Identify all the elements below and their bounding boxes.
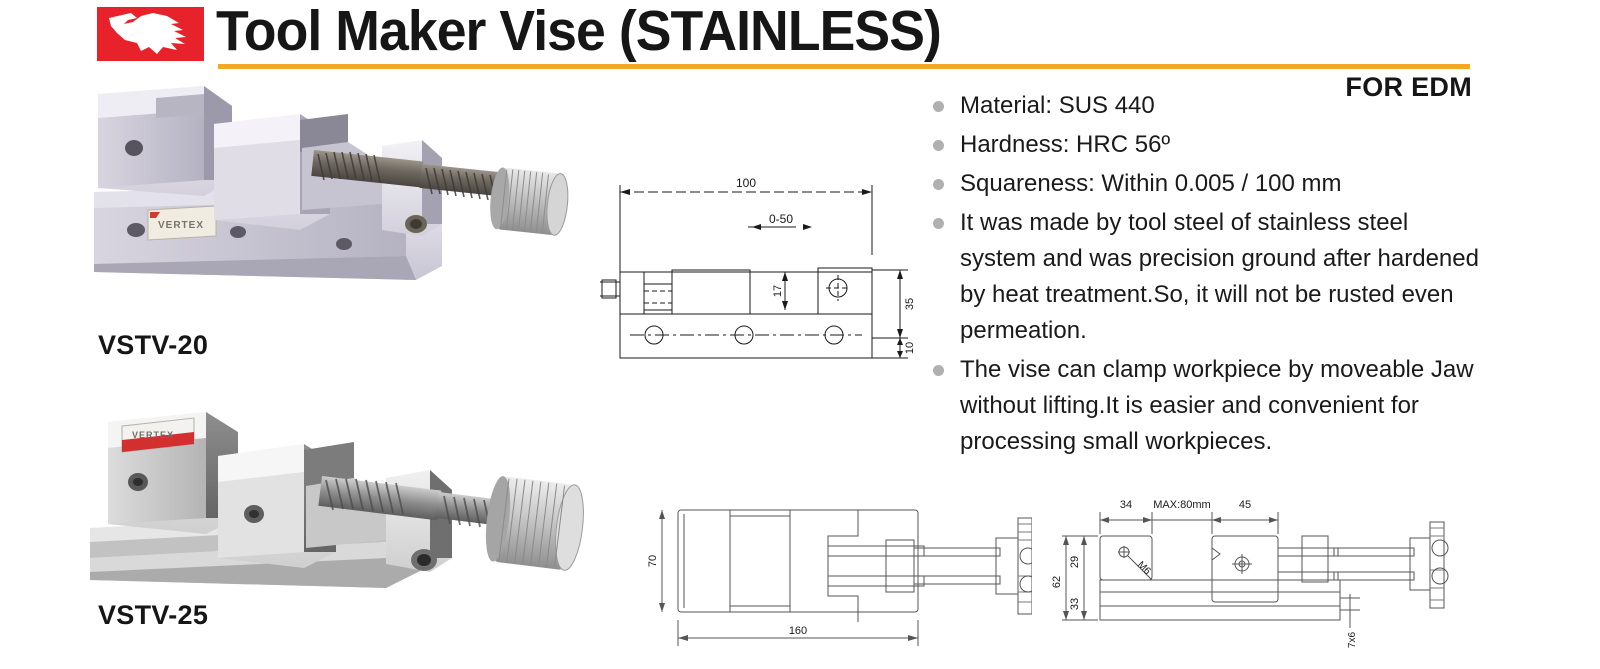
dim-fixed-jaw: 34 — [1120, 499, 1132, 511]
dim-max-opening: MAX:80mm — [1153, 499, 1210, 511]
dim-body-height: 35 — [904, 298, 916, 310]
dim-total-height: 62 — [1051, 576, 1063, 588]
spec-item: Material: SUS 440 — [928, 88, 1488, 124]
callout-thread: M6 — [1135, 559, 1153, 577]
spec-item: It was made by tool steel of stainless s… — [928, 205, 1488, 349]
side-elevation-vstv25-svg: 34 MAX:80mm 45 62 29 33 7x6 M6 — [1030, 478, 1460, 658]
dim-jaw-opening: 0-50 — [769, 212, 793, 226]
vise-illustration-vstv25: VERTEX — [86, 400, 586, 615]
model-label-vstv25: VSTV-25 — [98, 600, 208, 631]
dim-jaw-height: 29 — [1069, 556, 1081, 568]
product-photo-vstv20: VERTEX — [86, 84, 586, 324]
spec-item: Hardness: HRC 56º — [928, 127, 1488, 163]
dim-overall-length: 100 — [736, 176, 756, 190]
technical-drawing-side-vstv25: 34 MAX:80mm 45 62 29 33 7x6 M6 — [1030, 478, 1460, 658]
spec-text: Material: SUS 440 — [960, 92, 1155, 119]
vise-illustration-vstv20: VERTEX — [86, 84, 586, 324]
title-rule — [218, 64, 1470, 69]
page-title: Tool Maker Vise (STAINLESS) — [216, 0, 1081, 64]
svg-text:VERTEX: VERTEX — [132, 430, 174, 440]
svg-text:VERTEX: VERTEX — [158, 220, 204, 231]
technical-drawing-plan-vstv25: 70 160 — [632, 480, 1032, 655]
bullet-icon — [933, 140, 944, 151]
spec-text: Squareness: Within 0.005 / 100 mm — [960, 170, 1342, 197]
bullet-icon — [933, 101, 944, 112]
brand-logo — [97, 7, 204, 61]
side-elevation-svg: 100 0-50 17 35 10 — [600, 160, 940, 385]
dim-moving-jaw: 45 — [1239, 499, 1251, 511]
dim-base-height: 10 — [904, 342, 916, 354]
eagle-head-icon — [97, 7, 204, 61]
dim-width: 70 — [647, 555, 659, 567]
spec-item: Squareness: Within 0.005 / 100 mm — [928, 166, 1488, 202]
technical-drawing-side-vstv20: 100 0-50 17 35 10 — [600, 160, 940, 385]
spec-item: The vise can clamp workpiece by moveable… — [928, 352, 1488, 460]
plan-view-svg: 70 160 — [632, 480, 1032, 655]
dim-jaw-height: 17 — [772, 285, 784, 297]
dim-slot: 7x6 — [1347, 632, 1358, 649]
dim-base-height: 33 — [1069, 598, 1081, 610]
dim-length: 160 — [789, 625, 807, 637]
specification-list: Material: SUS 440 Hardness: HRC 56º Squa… — [928, 88, 1488, 463]
spec-text: Hardness: HRC 56º — [960, 131, 1170, 158]
product-photo-vstv25: VERTEX — [86, 400, 586, 615]
spec-text: The vise can clamp workpiece by moveable… — [960, 356, 1474, 455]
spec-text: It was made by tool steel of stainless s… — [960, 209, 1479, 344]
model-label-vstv20: VSTV-20 — [98, 330, 208, 361]
